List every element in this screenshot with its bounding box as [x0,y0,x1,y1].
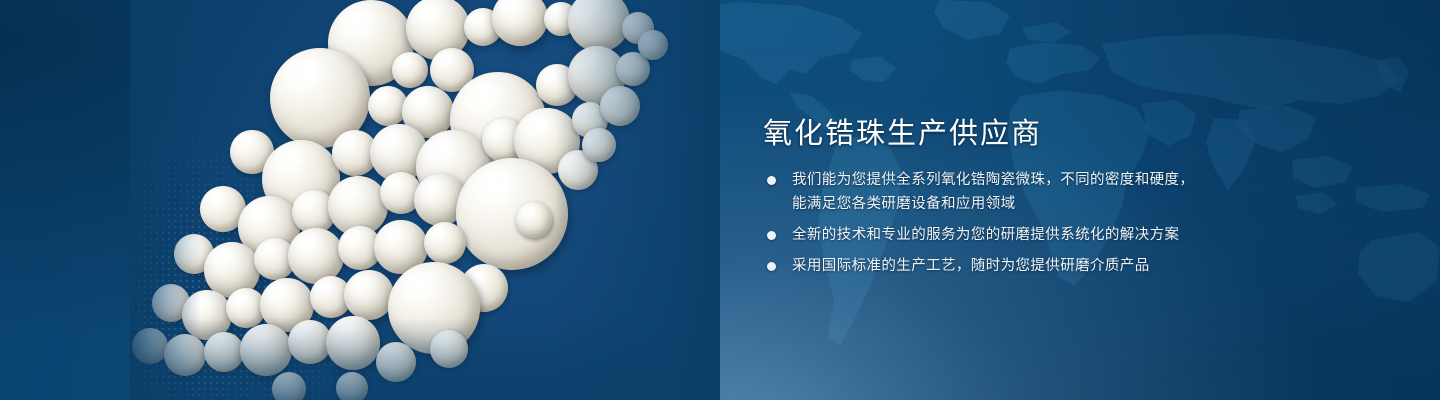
banner-bullet-list: 我们能为您提供全系列氧化锆陶瓷微珠，不同的密度和硬度， 能满足您各类研磨设备和应… [765,168,1235,285]
list-item: 我们能为您提供全系列氧化锆陶瓷微珠，不同的密度和硬度， 能满足您各类研磨设备和应… [765,168,1235,216]
bullet-dot-icon [767,262,776,271]
banner-headline: 氧化锆珠生产供应商 [763,110,1042,152]
list-item: 采用国际标准的生产工艺，随时为您提供研磨介质产品 [765,254,1235,278]
zirconia-beads-image [130,0,720,400]
bullet-text-line1: 我们能为您提供全系列氧化锆陶瓷微珠，不同的密度和硬度， [792,172,1194,188]
bullet-dot-icon [767,176,776,185]
list-item: 全新的技术和专业的服务为您的研磨提供系统化的解决方案 [765,223,1235,247]
bullet-text-line1: 采用国际标准的生产工艺，随时为您提供研磨介质产品 [792,258,1150,274]
bullet-text-line1: 全新的技术和专业的服务为您的研磨提供系统化的解决方案 [792,227,1179,243]
banner-text-column: 氧化锆珠生产供应商 我们能为您提供全系列氧化锆陶瓷微珠，不同的密度和硬度， 能满… [763,0,1363,400]
beads-cluster [130,0,720,400]
hero-banner: 氧化锆珠生产供应商 我们能为您提供全系列氧化锆陶瓷微珠，不同的密度和硬度， 能满… [0,0,1440,400]
bullet-dot-icon [767,231,776,240]
bullet-text-line2: 能满足您各类研磨设备和应用领域 [792,192,1235,216]
